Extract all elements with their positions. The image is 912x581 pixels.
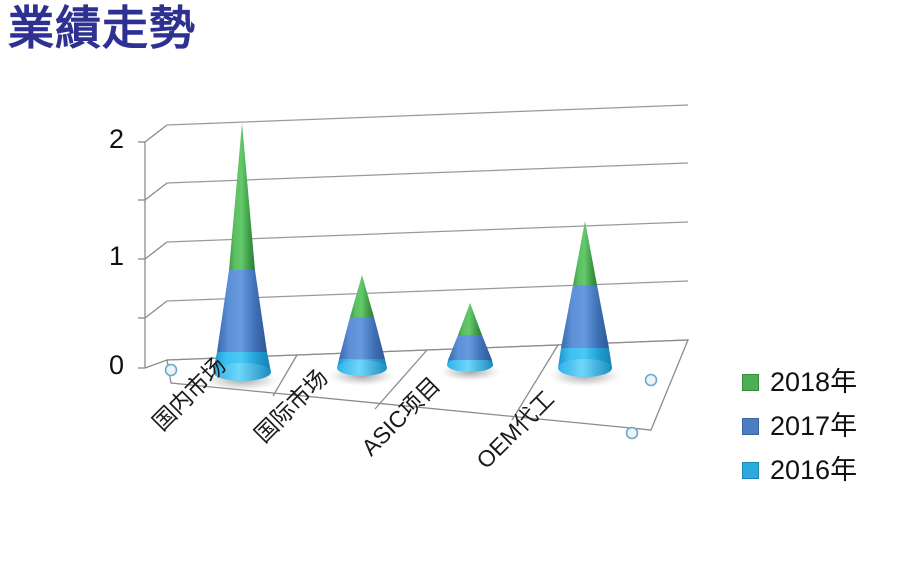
chart-plot-svg [0,95,912,581]
page-title: 業績走勢 [8,2,196,55]
cone-guoji-shichang[interactable] [325,275,399,387]
selection-handle-back-right [646,375,657,386]
chart-axis-wall [145,125,167,368]
cone-oem-daigong[interactable] [545,221,625,388]
y-axis-tick-2: 2 [82,126,124,153]
legend-item-2018[interactable]: 2018年 [742,360,902,404]
legend-label-2016: 2016年 [770,457,857,484]
legend-label-2018: 2018年 [770,369,857,396]
legend-swatch-2017-icon [742,418,759,435]
chart-y-ticks [138,142,145,368]
selection-handle-front-right [627,428,638,439]
chart-3d-stacked-cone[interactable]: 2 1 0 国内市场 国际市场 ASIC项目 OEM代工 2018年 2017年… [0,95,912,581]
y-axis-tick-0: 0 [82,352,124,379]
legend-item-2016[interactable]: 2016年 [742,448,902,492]
chart-legend[interactable]: 2018年 2017年 2016年 [742,360,902,492]
legend-swatch-2018-icon [742,374,759,391]
legend-label-2017: 2017年 [770,413,857,440]
cone-asic-xiangmu[interactable] [436,303,504,382]
y-axis-tick-1: 1 [82,243,124,270]
legend-swatch-2016-icon [742,462,759,479]
selection-handle-front-left [166,365,177,376]
legend-item-2017[interactable]: 2017年 [742,404,902,448]
